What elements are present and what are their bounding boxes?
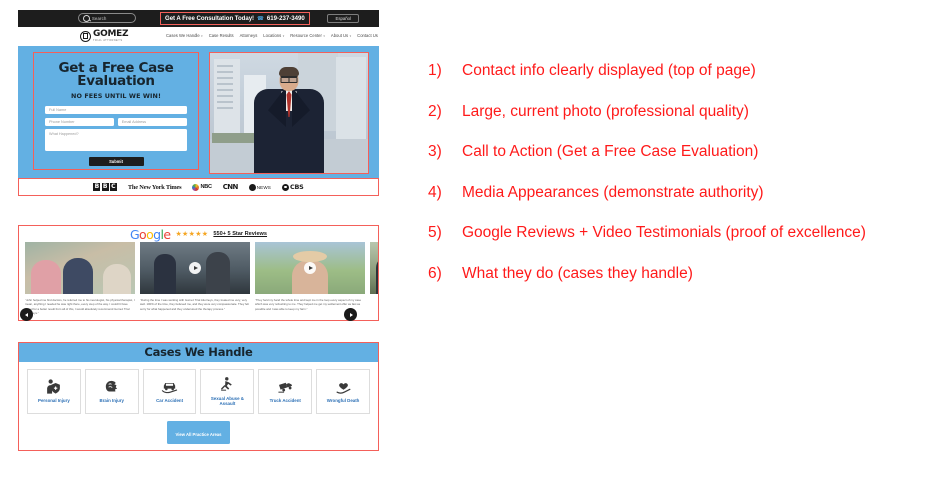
- search-icon: [83, 15, 90, 22]
- case-label: Wrongful Death: [327, 398, 360, 403]
- case-label: Brain Injury: [100, 398, 124, 403]
- submit-button[interactable]: Submit: [89, 157, 144, 166]
- truck-accident-icon: [277, 378, 294, 395]
- sexual-abuse-icon: [219, 376, 236, 393]
- phone-icon: ☎: [257, 16, 264, 22]
- nav-item-attorneys[interactable]: Attorneys: [240, 33, 258, 38]
- chevron-down-icon: ▾: [201, 34, 203, 38]
- hero-headline: Get a Free Case Evaluation: [34, 62, 198, 88]
- carousel-prev-button[interactable]: [20, 308, 33, 321]
- list-item: 3) Call to Action (Get a Free Case Evalu…: [428, 143, 908, 161]
- list-item-text: Media Appearances (demonstrate authority…: [462, 184, 764, 202]
- list-item-text: Large, current photo (professional quali…: [462, 103, 749, 121]
- abc-news-logo: NEWS: [249, 184, 271, 191]
- video-thumbnail[interactable]: [370, 242, 378, 294]
- case-tile-sexual-abuse-assault[interactable]: Sexual Abuse & Assault: [200, 369, 254, 414]
- glasses-icon: [281, 76, 298, 81]
- search-placeholder: Search: [92, 16, 106, 21]
- cta-label: Get A Free Consultation Today!: [165, 15, 254, 22]
- list-item: 6) What they do (cases they handle): [428, 265, 908, 283]
- list-item-text: Google Reviews + Video Testimonials (pro…: [462, 224, 866, 242]
- chevron-down-icon: ▾: [323, 34, 325, 38]
- reviews-testimonials-capture: Google ★★★★★ 550+ 5 Star Reviews “John h…: [18, 225, 379, 321]
- case-tile-wrongful-death[interactable]: Wrongful Death: [316, 369, 370, 414]
- cbs-logo: CBS: [282, 183, 304, 191]
- review-count-link[interactable]: 550+ 5 Star Reviews: [213, 231, 267, 237]
- play-icon[interactable]: [74, 262, 86, 274]
- video-thumbnail[interactable]: [255, 242, 365, 294]
- what-happened-textarea[interactable]: What Happened?: [45, 129, 187, 151]
- phone-number-field[interactable]: Phone Number: [45, 118, 114, 126]
- testimonial-card[interactable]: [370, 242, 378, 316]
- abc-circle-icon: [249, 184, 256, 191]
- logo-tagline: TRIAL ATTORNEYS: [93, 40, 128, 43]
- cnn-logo: CNN: [223, 183, 238, 191]
- nbc-logo: NBC: [192, 184, 211, 191]
- play-icon[interactable]: [304, 262, 316, 274]
- play-icon[interactable]: [189, 262, 201, 274]
- search-input[interactable]: Search: [78, 13, 136, 23]
- chevron-down-icon: ▾: [283, 34, 285, 38]
- google-reviews-header: Google ★★★★★ 550+ 5 Star Reviews: [19, 226, 378, 242]
- case-label: Personal Injury: [38, 398, 70, 403]
- testimonial-card[interactable]: “They held my hand the whole time and ke…: [255, 242, 365, 316]
- view-all-practice-areas-button[interactable]: View All Practice Areas: [167, 421, 231, 444]
- nav-item-contact-us[interactable]: Contact Us: [357, 33, 378, 38]
- full-name-field[interactable]: Full Name: [45, 106, 187, 114]
- attorney-figure: [250, 65, 328, 173]
- nav-item-cases-we-handle[interactable]: Cases We Handle ▾: [166, 33, 203, 38]
- cta-phone-number[interactable]: 619-237-3490: [267, 15, 305, 22]
- cases-section-title: Cases We Handle: [19, 343, 378, 362]
- bbc-logo: BBC: [93, 183, 116, 191]
- hero-section: Get a Free Case Evaluation NO FEES UNTIL…: [18, 46, 379, 178]
- list-item: 4) Media Appearances (demonstrate author…: [428, 184, 908, 202]
- google-logo: Google: [130, 227, 171, 242]
- video-thumbnail[interactable]: [140, 242, 250, 294]
- new-york-times-logo: The New York Times: [128, 184, 182, 191]
- logo-mark-icon: [80, 31, 91, 42]
- case-label: Truck Accident: [270, 398, 301, 403]
- case-tile-brain-injury[interactable]: Brain Injury: [85, 369, 139, 414]
- top-consultation-cta[interactable]: Get A Free Consultation Today! ☎ 619-237…: [160, 12, 310, 25]
- list-item: 2) Large, current photo (professional qu…: [428, 103, 908, 121]
- nav-item-about-us[interactable]: About Us ▾: [331, 33, 351, 38]
- site-logo[interactable]: GOMEZ TRIAL ATTORNEYS: [80, 30, 128, 42]
- wrongful-death-icon: [335, 378, 352, 395]
- case-tile-personal-injury[interactable]: Personal Injury: [27, 369, 81, 414]
- cbs-eye-icon: [282, 184, 289, 191]
- car-accident-icon: [161, 378, 178, 395]
- logo-name: GOMEZ: [93, 30, 128, 39]
- list-item-text: What they do (cases they handle): [462, 265, 693, 283]
- free-case-evaluation-form: Get a Free Case Evaluation NO FEES UNTIL…: [33, 52, 199, 170]
- list-item-number: 3): [428, 143, 462, 161]
- list-item-number: 6): [428, 265, 462, 283]
- hero-subheadline: NO FEES UNTIL WE WIN!: [71, 92, 161, 100]
- main-navbar: GOMEZ TRIAL ATTORNEYS Cases We Handle ▾ …: [18, 27, 379, 46]
- nav-item-case-results[interactable]: Case Results: [209, 33, 234, 38]
- testimonial-quote: “John helped me find doctors, he referre…: [25, 298, 135, 316]
- cases-grid: Personal Injury Brain Injury Car Acciden…: [19, 362, 378, 414]
- chevron-down-icon: ▾: [350, 34, 352, 38]
- attorney-photo: [209, 52, 369, 174]
- video-thumbnail[interactable]: [25, 242, 135, 294]
- carousel-next-button[interactable]: [344, 308, 357, 321]
- list-item: 1) Contact info clearly displayed (top o…: [428, 62, 908, 80]
- list-item: 5) Google Reviews + Video Testimonials (…: [428, 224, 908, 242]
- list-item-number: 4): [428, 184, 462, 202]
- case-label: Sexual Abuse & Assault: [203, 396, 251, 407]
- testimonial-card[interactable]: “During the time I was working with Gome…: [140, 242, 250, 316]
- nav-item-resource-center[interactable]: Resource Center ▾: [290, 33, 325, 38]
- testimonial-carousel: “John helped me find doctors, he referre…: [19, 242, 378, 316]
- list-item-text: Call to Action (Get a Free Case Evaluati…: [462, 143, 758, 161]
- nav-links: Cases We Handle ▾ Case Results Attorneys…: [166, 33, 378, 38]
- annotation-points-list: 1) Contact info clearly displayed (top o…: [428, 62, 908, 305]
- nav-item-locations[interactable]: Locations ▾: [263, 33, 284, 38]
- media-appearances-strip: BBC The New York Times NBC CNN NEWS CBS: [18, 178, 379, 196]
- list-item-text: Contact info clearly displayed (top of p…: [462, 62, 756, 80]
- testimonial-card[interactable]: “John helped me find doctors, he referre…: [25, 242, 135, 316]
- personal-injury-icon: [45, 378, 62, 395]
- case-label: Car Accident: [156, 398, 183, 403]
- list-item-number: 1): [428, 62, 462, 80]
- language-toggle-button[interactable]: Español: [327, 14, 359, 23]
- nbc-peacock-icon: [192, 184, 199, 191]
- list-item-number: 2): [428, 103, 462, 121]
- website-screenshot-column: Search Get A Free Consultation Today! ☎ …: [18, 10, 379, 451]
- brain-injury-icon: [103, 378, 120, 395]
- star-rating-icon: ★★★★★: [175, 230, 208, 238]
- case-tile-car-accident[interactable]: Car Accident: [143, 369, 197, 414]
- case-tile-truck-accident[interactable]: Truck Accident: [258, 369, 312, 414]
- testimonial-quote: “During the time I was working with Gome…: [140, 298, 250, 311]
- cases-we-handle-capture: Cases We Handle Personal Injury Brain In…: [18, 342, 379, 451]
- utility-topbar: Search Get A Free Consultation Today! ☎ …: [18, 10, 379, 27]
- email-address-field[interactable]: Email Address: [118, 118, 187, 126]
- list-item-number: 5): [428, 224, 462, 242]
- hero-website-capture: Search Get A Free Consultation Today! ☎ …: [18, 10, 379, 196]
